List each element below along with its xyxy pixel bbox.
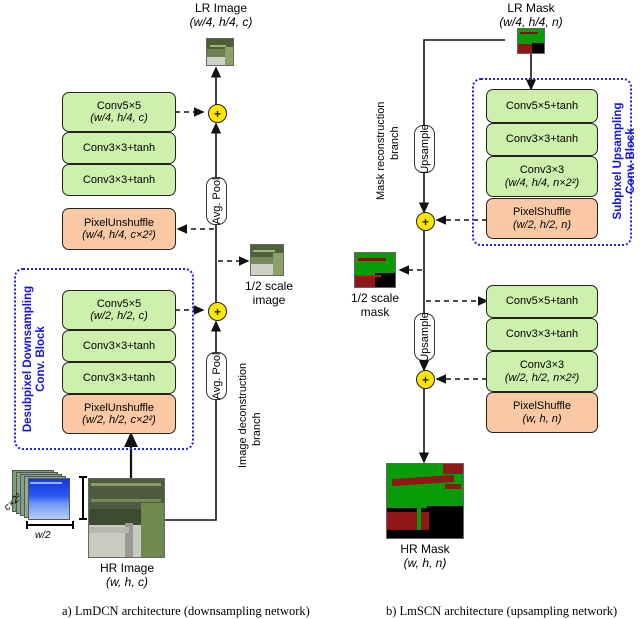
hr-mask-label: HR Mask (w, h, n): [384, 543, 466, 570]
half-scale-image-line2: image: [240, 294, 298, 308]
hr-mask-thumbnail: [386, 463, 464, 539]
left-lower-conv5x5[interactable]: Conv5×5 (w/2, h/2, c): [62, 290, 176, 330]
hr-image-thumbnail: [88, 478, 165, 558]
left-lower-conv3x3-tanh-b[interactable]: Conv3×3+tanh: [62, 362, 176, 394]
branch-line2: branch: [251, 412, 264, 446]
node-line2: (w/4, h/4, c×2²): [82, 229, 156, 242]
image-deconstruction-branch-label: Image deconstruction: [237, 363, 250, 468]
left-lower-conv3x3-tanh-a[interactable]: Conv3×3+tanh: [62, 330, 176, 362]
left-lower-sum-node[interactable]: [208, 302, 227, 321]
node-line1: Conv5×5+tanh: [506, 100, 578, 113]
upsample-label: Upsample: [419, 124, 431, 174]
right-lower-sum-node[interactable]: [416, 370, 435, 389]
half-scale-image-thumbnail: [250, 244, 284, 276]
tensor-width-tick: [26, 520, 74, 530]
tensor-height-tick: [78, 476, 88, 520]
hr-image-label: HR Image (w, h, c): [86, 562, 168, 589]
node-line2: (w/2, h/2, n×2²): [505, 372, 579, 385]
half-scale-mask-line2: mask: [344, 306, 406, 320]
left-upper-pixelunshuffle[interactable]: PixelUnshuffle (w/4, h/4, c×2²): [62, 208, 176, 250]
node-line1: Conv3×3+tanh: [506, 133, 578, 146]
right-upper-conv5x5-tanh[interactable]: Conv5×5+tanh: [486, 89, 598, 123]
left-upper-conv3x3-tanh-b[interactable]: Conv3×3+tanh: [62, 164, 176, 196]
right-lower-upsample[interactable]: Upsample: [414, 313, 435, 361]
avgpool-label: Avg. Pool: [211, 178, 223, 225]
branch-line1: Mask reconstruction: [375, 102, 388, 200]
node-line1: Conv5×5: [97, 100, 141, 113]
group-label-line1: Desubpixel Downsampling: [22, 276, 35, 442]
node-line1: Conv3×3+tanh: [83, 174, 155, 187]
node-line1: Conv3×3: [520, 359, 564, 372]
right-lower-conv5x5-tanh[interactable]: Conv5×5+tanh: [486, 285, 598, 318]
half-scale-image-label: 1/2 scale image: [240, 280, 298, 307]
hr-image-dims: (w, h, c): [86, 576, 168, 590]
node-line1: Conv5×5+tanh: [506, 295, 578, 308]
left-upper-conv5x5[interactable]: Conv5×5 (w/4, h/4, c): [62, 92, 176, 132]
right-upper-conv3x3-tanh[interactable]: Conv3×3+tanh: [486, 123, 598, 156]
node-line2: (w/2, h/2, c×2²): [82, 414, 156, 427]
node-line2: (w/2, h/2, n): [513, 219, 571, 232]
node-line2: (w/4, h/4, n×2²): [505, 177, 579, 190]
right-figure-caption: b) LmSCN architecture (upsampling networ…: [386, 604, 617, 619]
node-line1: PixelShuffle: [513, 206, 571, 219]
node-line1: Conv3×3+tanh: [83, 372, 155, 385]
group-label-line2: Conv. Block: [625, 82, 638, 240]
lr-mask-title: LR Mask: [486, 2, 576, 16]
node-line1: Conv3×3+tanh: [83, 340, 155, 353]
node-line1: Conv3×3+tanh: [506, 328, 578, 341]
left-upper-sum-node[interactable]: [208, 104, 227, 123]
node-line2: (w/4, h/4, c): [90, 112, 147, 125]
hr-mask-dims: (w, h, n): [384, 557, 466, 571]
desubpixel-downsampling-label: Desubpixel Downsampling Conv. Block: [22, 276, 48, 442]
image-deconstruction-branch-label-2: branch: [251, 412, 264, 446]
lr-image-title: LR Image: [176, 2, 266, 16]
lr-image-dims: (w/4, h/4, c): [176, 16, 266, 30]
node-line1: Conv3×3+tanh: [83, 142, 155, 155]
node-line1: Conv5×5: [97, 298, 141, 311]
subpixel-upsampling-label: Subpixel Upsampling Conv. Block: [612, 82, 638, 240]
mask-reconstruction-branch-label: Mask reconstruction: [375, 102, 388, 200]
group-label-line1: Subpixel Upsampling: [612, 82, 625, 240]
left-lower-avgpool[interactable]: Avg. Pool: [206, 352, 227, 400]
half-scale-image-line1: 1/2 scale: [240, 280, 298, 294]
mask-reconstruction-branch-label-2: branch: [389, 126, 402, 160]
left-upper-conv3x3-tanh-a[interactable]: Conv3×3+tanh: [62, 132, 176, 164]
lr-mask-thumbnail: [517, 28, 545, 54]
lr-image-label: LR Image (w/4, h/4, c): [176, 2, 266, 29]
lr-image-thumbnail: [206, 38, 234, 66]
hr-mask-title: HR Mask: [384, 543, 466, 557]
half-scale-mask-label: 1/2 scale mask: [344, 292, 406, 319]
left-upper-avgpool[interactable]: Avg. Pool: [206, 177, 227, 225]
right-upper-pixelshuffle[interactable]: PixelShuffle (w/2, h/2, n): [486, 198, 598, 239]
left-figure-caption: a) LmDCN architecture (downsampling netw…: [62, 604, 310, 619]
right-upper-upsample[interactable]: Upsample: [414, 125, 435, 173]
figure-canvas: LR Image (w/4, h/4, c) Conv5×5 (w/4, h/4…: [0, 0, 640, 614]
node-line2: (w/2, h/2, c): [90, 310, 147, 323]
right-upper-sum-node[interactable]: [416, 212, 435, 231]
tensor-width-label: w/2: [35, 530, 51, 541]
right-lower-pixelshuffle[interactable]: PixelShuffle (w, h, n): [486, 392, 598, 433]
node-line2: (w, h, n): [522, 413, 561, 426]
right-lower-conv3x3[interactable]: Conv3×3 (w/2, h/2, n×2²): [486, 351, 598, 392]
branch-line1: Image deconstruction: [237, 363, 250, 468]
hr-image-title: HR Image: [86, 562, 168, 576]
node-line1: Conv3×3: [520, 164, 564, 177]
node-line1: PixelShuffle: [513, 400, 571, 413]
branch-line2: branch: [389, 126, 402, 160]
upsample-label: Upsample: [419, 312, 431, 362]
right-lower-conv3x3-tanh[interactable]: Conv3×3+tanh: [486, 318, 598, 351]
lr-mask-dims: (w/4, h/4, n): [486, 16, 576, 30]
lr-mask-label: LR Mask (w/4, h/4, n): [486, 2, 576, 29]
half-scale-mask-thumbnail: [354, 252, 396, 288]
node-line1: PixelUnshuffle: [84, 402, 154, 415]
avgpool-label: Avg. Pool: [211, 353, 223, 400]
right-upper-conv3x3[interactable]: Conv3×3 (w/4, h/4, n×2²): [486, 156, 598, 197]
left-lower-pixelunshuffle[interactable]: PixelUnshuffle (w/2, h/2, c×2²): [62, 394, 176, 434]
node-line1: PixelUnshuffle: [84, 217, 154, 230]
group-label-line2: Conv. Block: [35, 276, 48, 442]
half-scale-mask-line1: 1/2 scale: [344, 292, 406, 306]
